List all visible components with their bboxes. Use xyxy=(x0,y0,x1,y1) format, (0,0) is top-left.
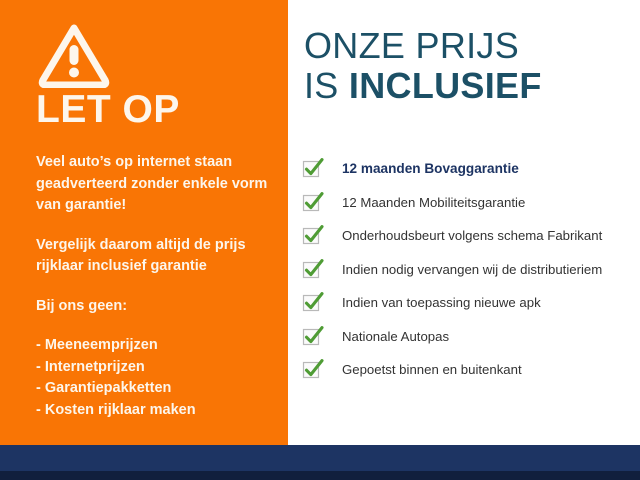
headline-prefix: IS xyxy=(304,65,349,106)
headline-line-2: IS INCLUSIEF xyxy=(304,66,542,106)
footer-bar-accent xyxy=(0,471,640,480)
list-item-label: Onderhoudsbeurt volgens schema Fabrikant xyxy=(342,228,602,243)
list-item: Gepoetst binnen en buitenkant xyxy=(302,353,638,387)
check-icon xyxy=(302,258,324,280)
check-icon xyxy=(302,191,324,213)
page-title: LET OP xyxy=(36,88,180,132)
inclusions-checklist: 12 maanden Bovaggarantie 12 Maanden Mobi… xyxy=(302,152,638,387)
warning-paragraph-3: Bij ons geen: xyxy=(36,296,274,318)
check-icon xyxy=(302,291,324,313)
list-item: - Meeneemprijzen xyxy=(36,335,274,357)
list-item-label: Indien nodig vervangen wij de distributi… xyxy=(342,262,602,277)
list-item: 12 Maanden Mobiliteitsgarantie xyxy=(302,186,638,220)
list-item: - Kosten rijklaar maken xyxy=(36,400,274,422)
warning-panel: LET OP Veel auto’s op internet staan gea… xyxy=(0,0,288,445)
footer-bar xyxy=(0,445,640,471)
list-item-label: 12 Maanden Mobiliteitsgarantie xyxy=(342,195,525,210)
list-item-label: Nationale Autopas xyxy=(342,329,449,344)
list-item: Indien nodig vervangen wij de distributi… xyxy=(302,253,638,287)
list-item: Indien van toepassing nieuwe apk xyxy=(302,286,638,320)
inclusive-panel: ONZE PRIJS IS INCLUSIEF 12 maanden Bovag… xyxy=(288,0,640,445)
list-item: - Internetprijzen xyxy=(36,357,274,379)
check-icon xyxy=(302,157,324,179)
headline-line-1: ONZE PRIJS xyxy=(304,26,542,66)
headline: ONZE PRIJS IS INCLUSIEF xyxy=(304,26,542,106)
list-item-label: Gepoetst binnen en buitenkant xyxy=(342,362,522,377)
list-item: - Garantiepakketten xyxy=(36,378,274,400)
list-item: Onderhoudsbeurt volgens schema Fabrikant xyxy=(302,219,638,253)
check-icon xyxy=(302,358,324,380)
warning-body-text: Veel auto’s op internet staan geadvertee… xyxy=(36,152,274,421)
check-icon xyxy=(302,325,324,347)
warning-paragraph-2: Vergelijk daarom altijd de prijs rijklaa… xyxy=(36,235,274,278)
list-item: 12 maanden Bovaggarantie xyxy=(302,152,638,186)
warning-triangle-icon xyxy=(38,22,110,88)
headline-emphasis: INCLUSIEF xyxy=(349,65,542,106)
list-item-label: Indien van toepassing nieuwe apk xyxy=(342,295,541,310)
promo-banner: LET OP Veel auto’s op internet staan gea… xyxy=(0,0,640,480)
list-item: Nationale Autopas xyxy=(302,320,638,354)
exclusions-list: - Meeneemprijzen - Internetprijzen - Gar… xyxy=(36,335,274,421)
warning-paragraph-1: Veel auto’s op internet staan geadvertee… xyxy=(36,152,274,217)
check-icon xyxy=(302,224,324,246)
list-item-label: 12 maanden Bovaggarantie xyxy=(342,161,519,176)
